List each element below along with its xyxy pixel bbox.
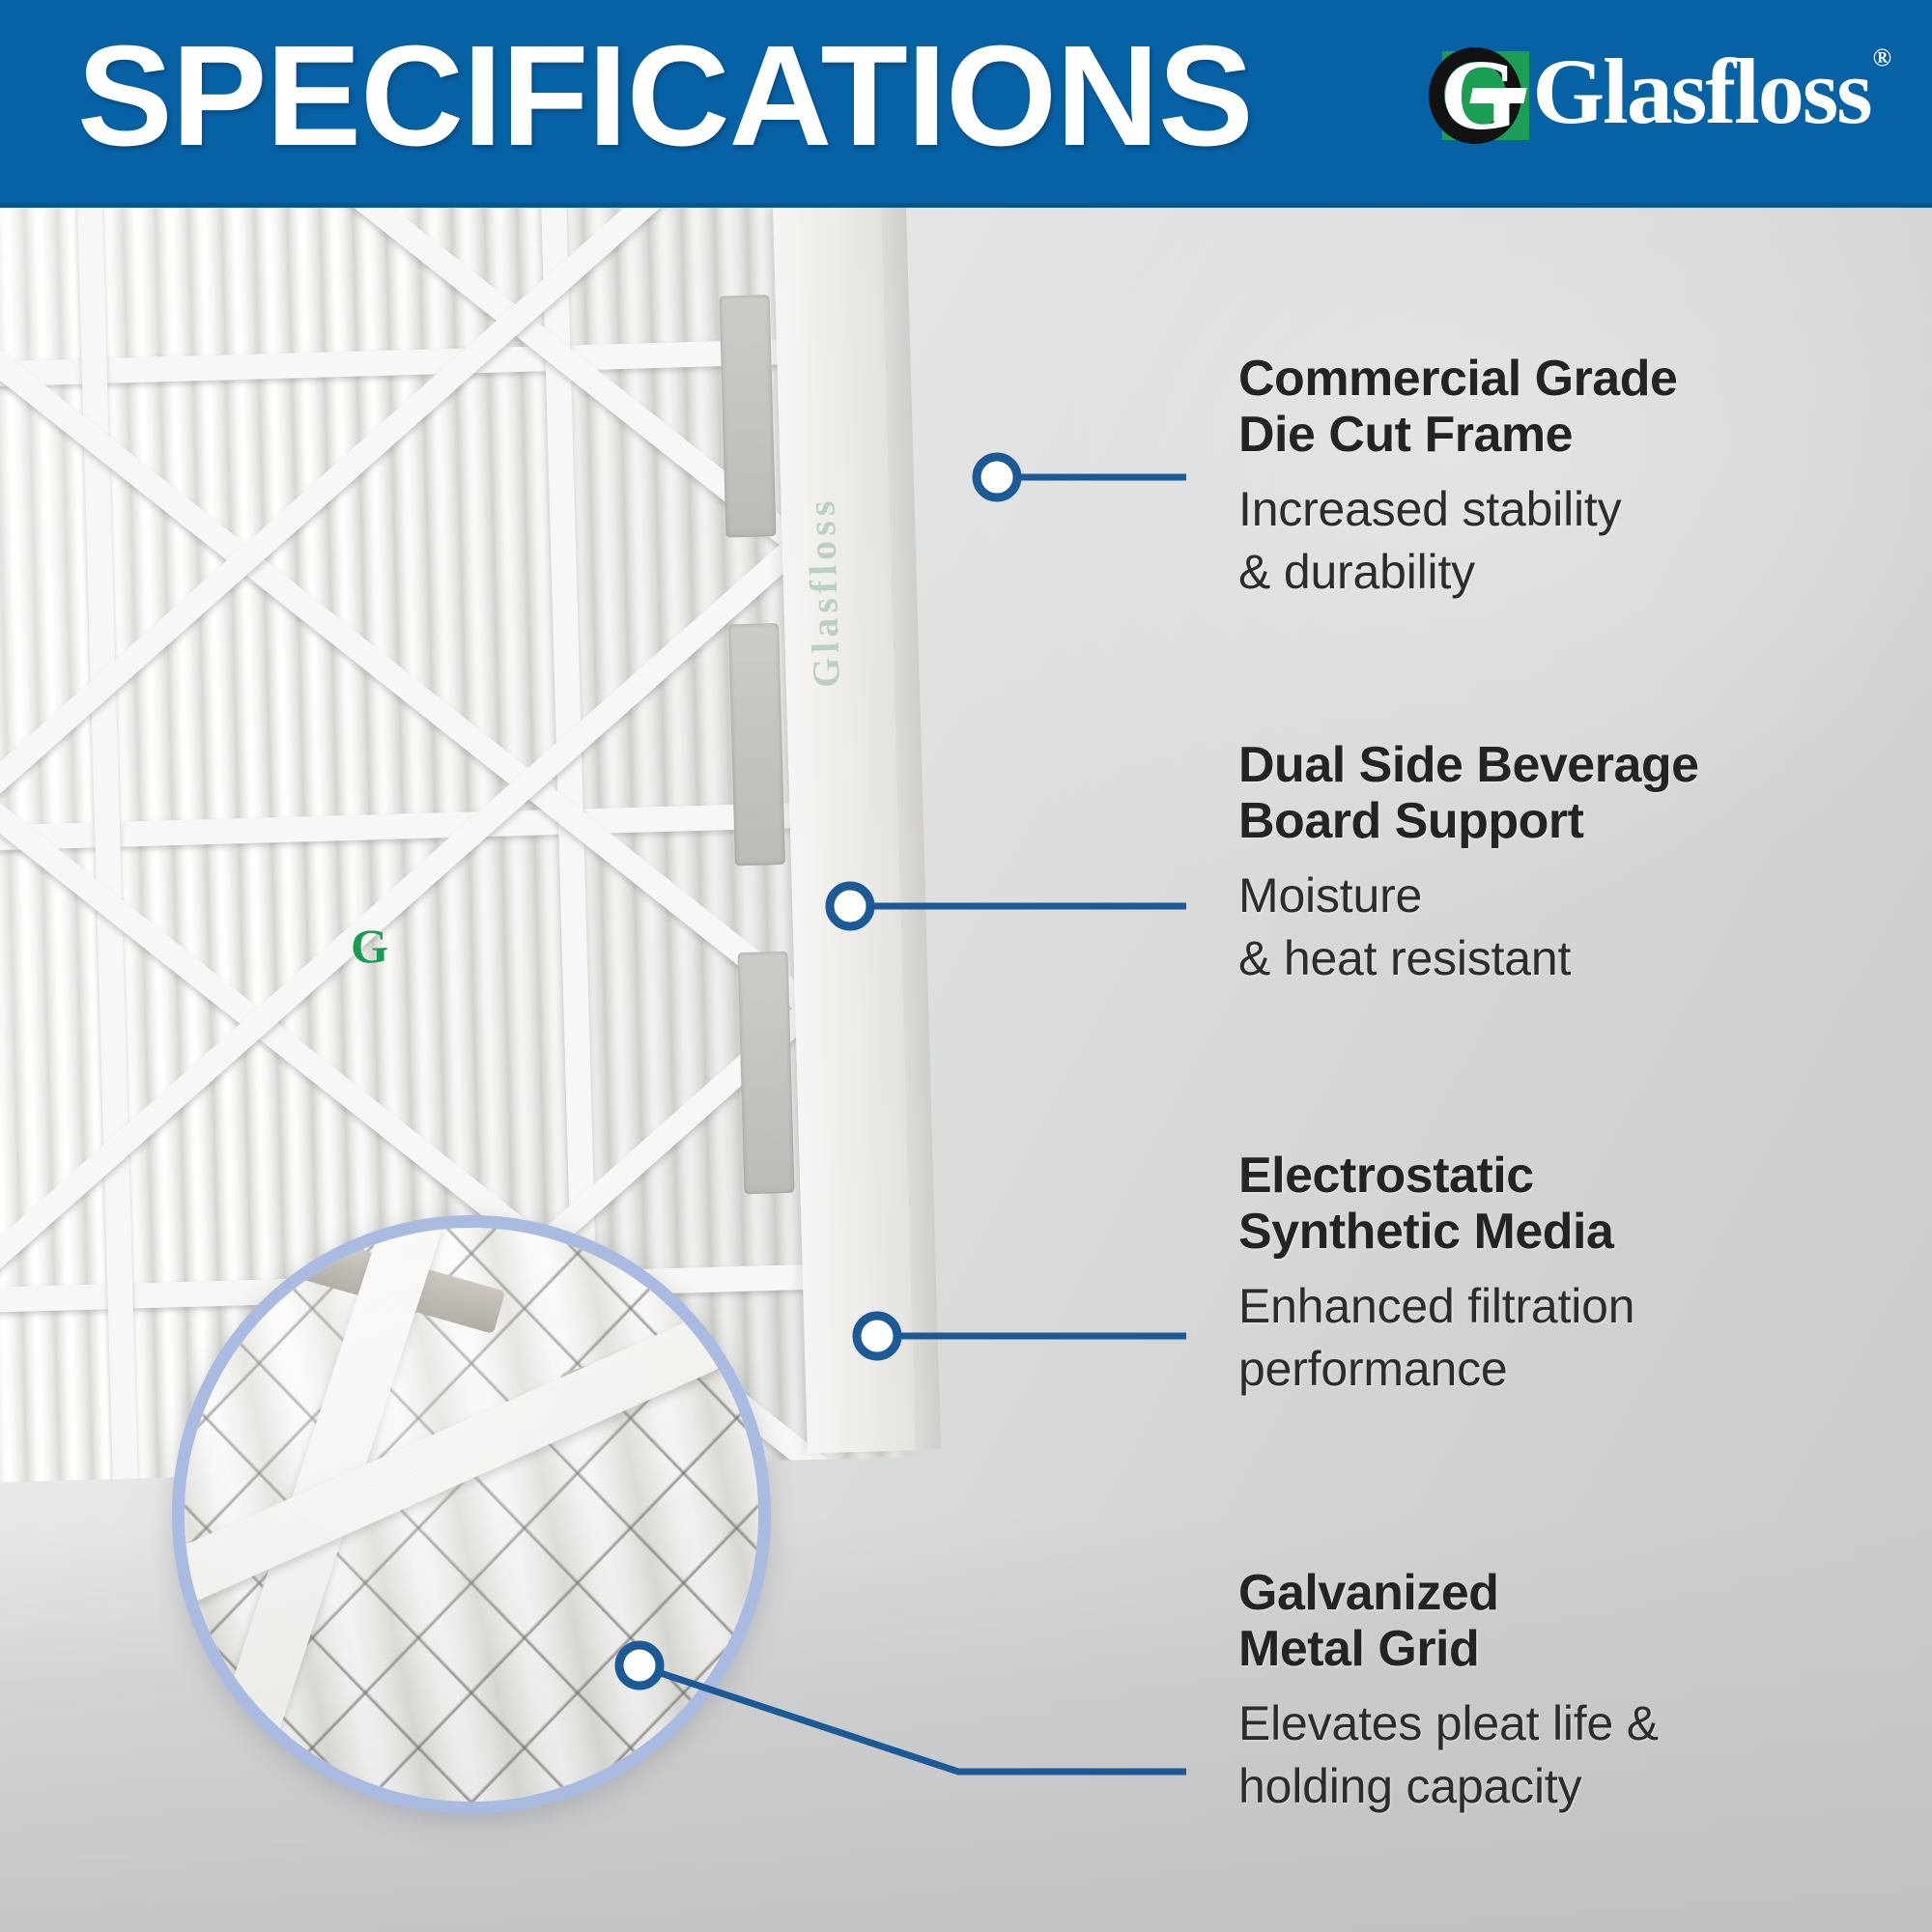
callout-title: Galvanized Metal Grid <box>1238 1565 1876 1677</box>
callout-body: Increased stability & durability <box>1238 478 1876 604</box>
callout-body: Elevates pleat life & holding capacity <box>1238 1692 1876 1818</box>
die-cut-frame-rail: Glasfloss <box>773 203 981 1454</box>
callout-title: Dual Side Beverage Board Support <box>1238 737 1895 849</box>
callout-body-line2: & heat resistant <box>1238 927 1895 990</box>
callout-title-line1: Dual Side Beverage <box>1238 737 1895 793</box>
frame-brand-text: Glasfloss <box>798 496 849 689</box>
callout-body-line2: holding capacity <box>1238 1755 1876 1818</box>
glasfloss-logo[interactable]: G Glasfloss® <box>1429 43 1889 149</box>
callout-body-line1: Increased stability <box>1238 478 1876 541</box>
frame-slot <box>720 295 777 537</box>
callout-title-line1: Electrostatic <box>1238 1148 1876 1204</box>
logo-wordmark-text: Glasfloss <box>1533 40 1871 143</box>
callout-body-line1: Moisture <box>1238 865 1895 927</box>
page-header: SPECIFICATIONS G Glasfloss® <box>0 0 1932 208</box>
callout-body-line1: Enhanced filtration <box>1238 1275 1876 1338</box>
callout-body: Moisture & heat resistant <box>1238 865 1895 990</box>
callout-title-line2: Metal Grid <box>1238 1621 1876 1677</box>
callout-body: Enhanced filtration performance <box>1238 1275 1876 1401</box>
callout-galvanized-metal-grid: Galvanized Metal Grid Elevates pleat lif… <box>1238 1565 1876 1818</box>
callout-title: Electrostatic Synthetic Media <box>1238 1148 1876 1260</box>
callout-title-line2: Board Support <box>1238 793 1895 849</box>
callout-title-line1: Galvanized <box>1238 1565 1876 1621</box>
inset-lighting <box>185 1228 758 1802</box>
callout-body-line1: Elevates pleat life & <box>1238 1692 1876 1755</box>
callout-title-line2: Synthetic Media <box>1238 1204 1876 1260</box>
page-title: SPECIFICATIONS <box>77 25 1253 168</box>
callout-title: Commercial Grade Die Cut Frame <box>1238 351 1876 463</box>
infographic-stage: G Glasfloss <box>0 0 1932 1932</box>
logo-wordmark: Glasfloss® <box>1533 45 1889 138</box>
frame-slot <box>738 952 795 1194</box>
callout-title-line2: Die Cut Frame <box>1238 407 1876 463</box>
callout-electrostatic-synthetic-media: Electrostatic Synthetic Media Enhanced f… <box>1238 1148 1876 1401</box>
glasfloss-g-sticker-icon: G <box>347 924 392 968</box>
callout-body-line2: performance <box>1238 1338 1876 1401</box>
callout-title-line1: Commercial Grade <box>1238 351 1876 407</box>
frame-slot <box>728 623 785 866</box>
callout-dual-side-beverage-board-support: Dual Side Beverage Board Support Moistur… <box>1238 737 1895 990</box>
registered-trademark-icon: ® <box>1873 43 1889 71</box>
glasfloss-logo-mark-icon: G <box>1429 45 1529 146</box>
magnified-grid-inset <box>172 1215 771 1814</box>
callout-body-line2: & durability <box>1238 541 1876 604</box>
callout-commercial-grade-die-cut-frame: Commercial Grade Die Cut Frame Increased… <box>1238 351 1876 604</box>
